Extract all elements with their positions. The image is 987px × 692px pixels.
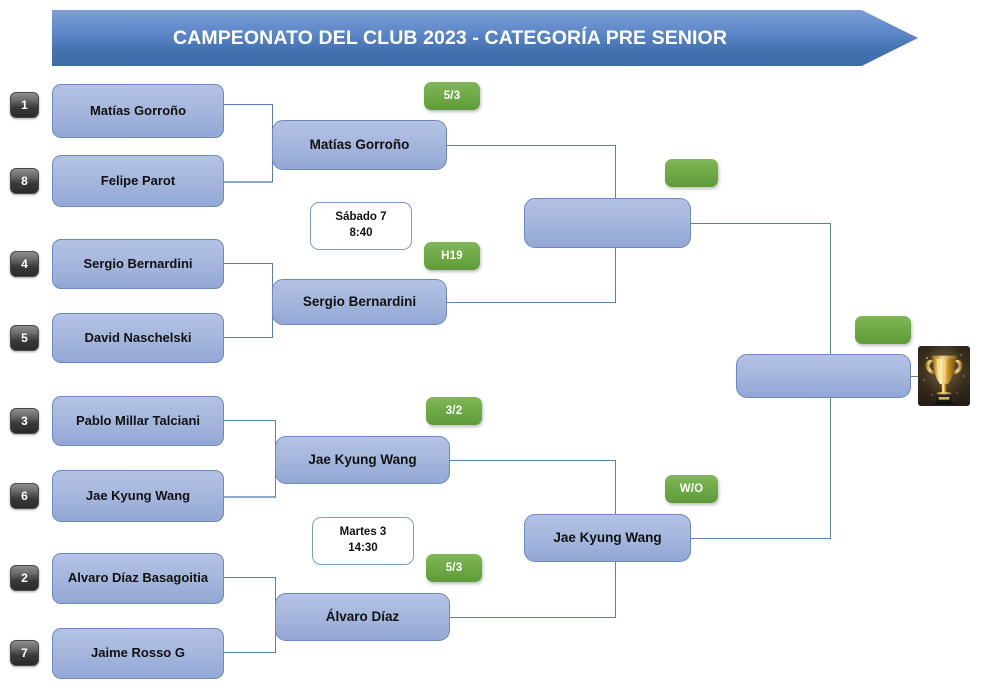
- player-name: Jae Kyung Wang: [86, 489, 190, 503]
- score-text: H19: [441, 250, 463, 262]
- player-box-6[interactable]: Jae Kyung Wang: [52, 470, 224, 522]
- match-winner-qf3[interactable]: Jae Kyung Wang: [275, 436, 450, 484]
- player-name: Matías Gorroño: [90, 104, 186, 118]
- winner-name: Matías Gorroño: [310, 138, 410, 153]
- schedule-time: 8:40: [349, 226, 372, 242]
- player-name: Felipe Parot: [101, 174, 175, 188]
- seed-number: 4: [21, 257, 28, 271]
- winner-name: Jae Kyung Wang: [553, 531, 661, 546]
- seed-number: 1: [21, 98, 28, 112]
- seed-badge-8: 8: [10, 168, 39, 194]
- schedule-box-1: Sábado 7 8:40: [310, 202, 412, 250]
- player-box-8[interactable]: Felipe Parot: [52, 155, 224, 207]
- player-box-3[interactable]: Pablo Millar Talciani: [52, 396, 224, 446]
- match-winner-qf2[interactable]: Sergio Bernardini: [272, 279, 447, 325]
- score-badge-qf4: 5/3: [426, 554, 482, 582]
- seed-badge-2: 2: [10, 565, 39, 591]
- score-badge-qf1: 5/3: [424, 82, 480, 110]
- seed-badge-5: 5: [10, 325, 39, 351]
- score-badge-final: [855, 316, 911, 344]
- player-name: Jaime Rosso G: [91, 646, 185, 660]
- score-badge-sf1: [665, 159, 718, 187]
- match-winner-qf1[interactable]: Matías Gorroño: [272, 120, 447, 170]
- match-winner-sf1[interactable]: [524, 198, 691, 248]
- schedule-box-2: Martes 3 14:30: [312, 517, 414, 565]
- winner-name: Sergio Bernardini: [303, 295, 416, 310]
- score-badge-qf3: 3/2: [426, 397, 482, 425]
- score-badge-qf2: H19: [424, 242, 480, 270]
- seed-badge-3: 3: [10, 408, 39, 434]
- player-name: Sergio Bernardini: [83, 257, 192, 271]
- score-text: W/O: [680, 483, 704, 495]
- schedule-day: Martes 3: [340, 525, 387, 541]
- seed-number: 6: [21, 489, 28, 503]
- score-text: 5/3: [444, 90, 461, 102]
- seed-number: 8: [21, 174, 28, 188]
- seed-badge-1: 1: [10, 92, 39, 118]
- seed-number: 3: [21, 414, 28, 428]
- winner-name: Jae Kyung Wang: [308, 453, 416, 468]
- trophy-glyph: [918, 346, 970, 406]
- trophy-icon: [918, 346, 970, 406]
- score-badge-sf2: W/O: [665, 475, 718, 503]
- schedule-day: Sábado 7: [335, 210, 386, 226]
- seed-badge-7: 7: [10, 640, 39, 666]
- player-name: David Naschelski: [85, 331, 192, 345]
- score-text: 5/3: [446, 562, 463, 574]
- match-winner-final[interactable]: [736, 354, 911, 398]
- player-name: Alvaro Díaz Basagoitia: [68, 571, 208, 585]
- seed-badge-6: 6: [10, 483, 39, 509]
- seed-badge-4: 4: [10, 251, 39, 277]
- match-winner-qf4[interactable]: Álvaro Díaz: [275, 593, 450, 641]
- schedule-time: 14:30: [348, 541, 377, 557]
- winner-name: Álvaro Díaz: [326, 610, 400, 625]
- player-box-7[interactable]: Jaime Rosso G: [52, 628, 224, 679]
- seed-number: 2: [21, 571, 28, 585]
- seed-number: 5: [21, 331, 28, 345]
- player-name: Pablo Millar Talciani: [76, 414, 200, 428]
- player-box-4[interactable]: Sergio Bernardini: [52, 239, 224, 289]
- player-box-5[interactable]: David Naschelski: [52, 313, 224, 363]
- player-box-2[interactable]: Alvaro Díaz Basagoitia: [52, 553, 224, 604]
- player-box-1[interactable]: Matías Gorroño: [52, 84, 224, 138]
- match-winner-sf2[interactable]: Jae Kyung Wang: [524, 514, 691, 562]
- score-text: 3/2: [446, 405, 463, 417]
- seed-number: 7: [21, 646, 28, 660]
